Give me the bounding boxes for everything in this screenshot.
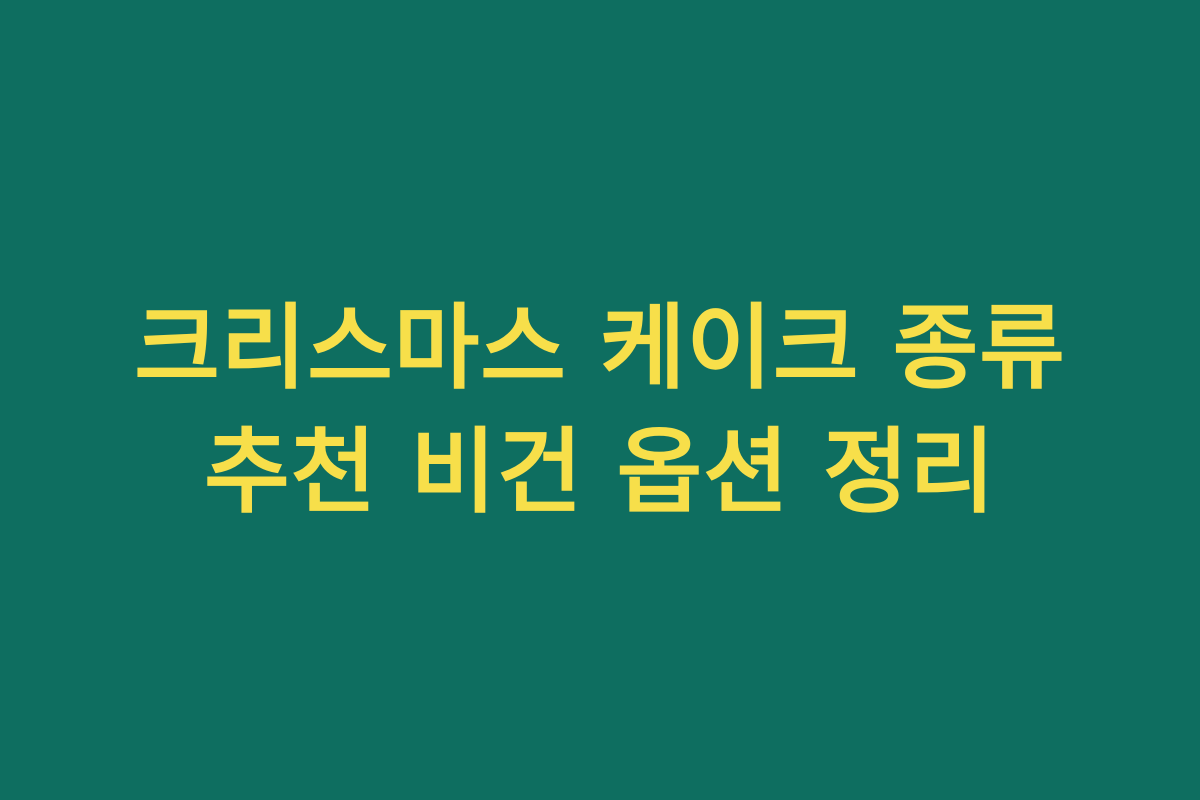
- banner-background: 크리스마스 케이크 종류 추천 비건 옵션 정리: [0, 0, 1200, 800]
- title-line-2: 추천 비건 옵션 정리: [0, 411, 1200, 535]
- page-title: 크리스마스 케이크 종류 추천 비건 옵션 정리: [0, 287, 1200, 534]
- title-line-1: 크리스마스 케이크 종류: [0, 287, 1200, 411]
